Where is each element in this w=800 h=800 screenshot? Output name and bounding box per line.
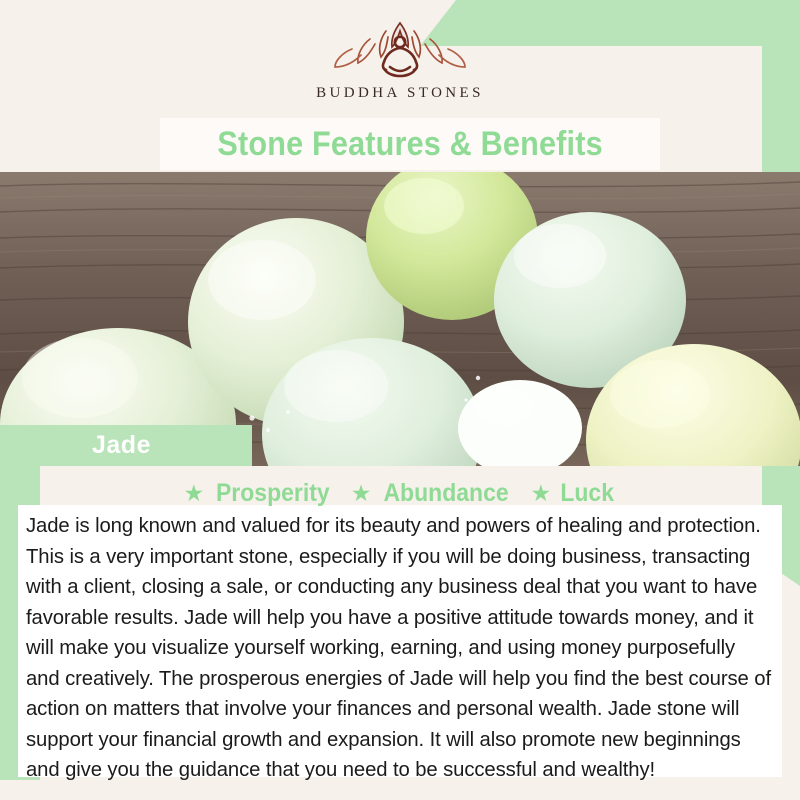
description-text: Jade is long known and valued for its be…	[26, 511, 774, 786]
brand-name: BUDDHA STONES	[316, 85, 484, 102]
description-panel: Jade is long known and valued for its be…	[18, 505, 782, 777]
benefit-label: Prosperity	[216, 479, 330, 508]
stone-name-band: Jade	[0, 425, 252, 466]
benefit-item: ★ Luck	[531, 479, 617, 508]
benefits-list: ★ Prosperity ★ Abundance ★ Luck	[0, 478, 800, 508]
page-title: Stone Features & Benefits	[217, 125, 602, 164]
star-icon: ★	[351, 482, 372, 505]
lotus-meditation-icon	[326, 17, 474, 81]
stone-name: Jade	[92, 431, 151, 460]
benefit-label: Abundance	[384, 479, 509, 508]
benefit-label: Luck	[560, 479, 614, 508]
infographic-page: BUDDHA STONES Stone Features & Benefits	[0, 0, 800, 800]
stone-photo	[0, 172, 800, 466]
star-icon: ★	[531, 482, 552, 505]
benefit-item: ★ Prosperity	[183, 479, 334, 508]
section-title-band: Stone Features & Benefits	[160, 118, 660, 170]
benefit-item: ★ Abundance	[351, 479, 515, 508]
brand-header: BUDDHA STONES	[0, 0, 800, 118]
star-icon: ★	[183, 482, 204, 505]
